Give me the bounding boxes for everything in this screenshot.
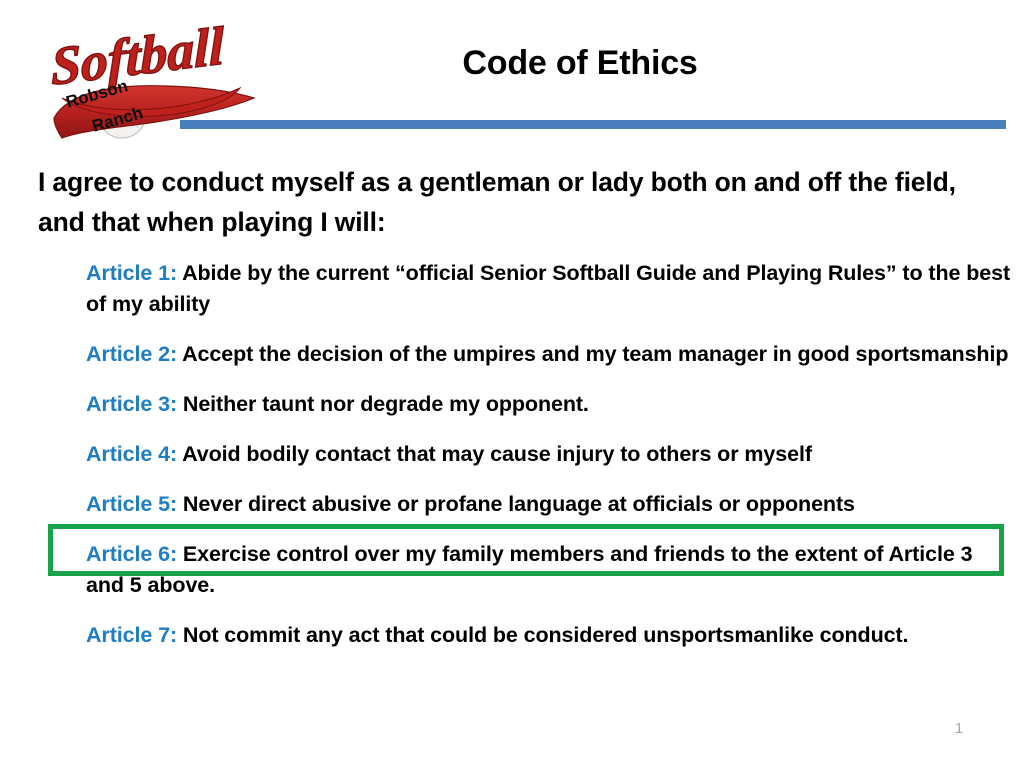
- article-text: Avoid bodily contact that may cause inju…: [177, 442, 812, 466]
- article-text: Not commit any act that could be conside…: [177, 623, 908, 647]
- article-text: Never direct abusive or profane language…: [177, 492, 855, 516]
- intro-paragraph: I agree to conduct myself as a gentleman…: [38, 162, 978, 242]
- article-item-5: Article 5: Never direct abusive or profa…: [86, 489, 1011, 520]
- article-label: Article 6:: [86, 542, 177, 566]
- article-text: Exercise control over my family members …: [86, 542, 972, 597]
- article-text: Accept the decision of the umpires and m…: [177, 342, 1008, 366]
- articles-list: Article 1: Abide by the current “officia…: [86, 258, 1011, 651]
- svg-text:Softball: Softball: [51, 22, 225, 97]
- page-title: Code of Ethics: [270, 44, 890, 83]
- article-item-3: Article 3: Neither taunt nor degrade my …: [86, 389, 1011, 420]
- article-item-2: Article 2: Accept the decision of the um…: [86, 339, 1011, 370]
- article-label: Article 4:: [86, 442, 177, 466]
- slide-canvas: Softball Robson Ranch Code of Ethics I a…: [0, 0, 1024, 768]
- article-item-4: Article 4: Avoid bodily contact that may…: [86, 439, 1011, 470]
- article-label: Article 3:: [86, 392, 177, 416]
- article-label: Article 1:: [86, 261, 177, 285]
- article-label: Article 7:: [86, 623, 177, 647]
- article-label: Article 5:: [86, 492, 177, 516]
- article-label: Article 2:: [86, 342, 177, 366]
- article-item-7: Article 7: Not commit any act that could…: [86, 620, 1011, 651]
- article-item-6: Article 6: Exercise control over my fami…: [86, 539, 1011, 601]
- title-divider-rule: [180, 120, 1006, 129]
- page-number: 1: [944, 720, 974, 737]
- article-item-1: Article 1: Abide by the current “officia…: [86, 258, 1011, 320]
- article-text: Abide by the current “official Senior So…: [86, 261, 1010, 316]
- article-text: Neither taunt nor degrade my opponent.: [177, 392, 589, 416]
